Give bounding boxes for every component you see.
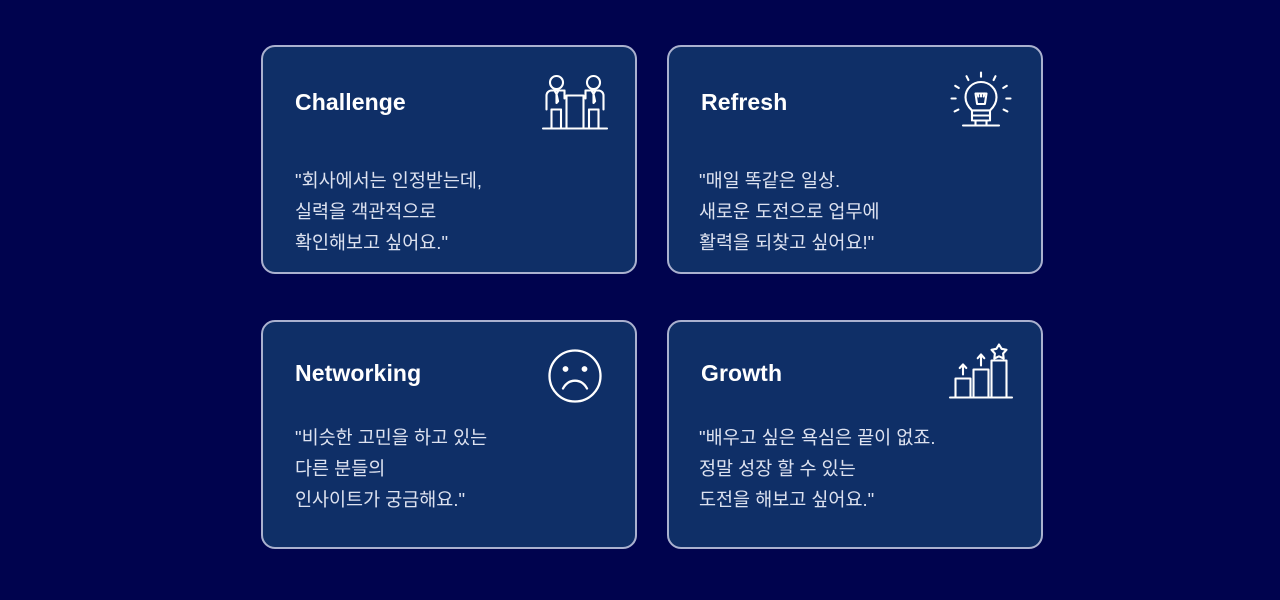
card-header: Challenge [295,81,609,153]
lightbulb-icon [945,69,1017,141]
sad-face-icon [539,340,611,412]
bar-chart-growth-icon [945,340,1017,412]
card-title: Networking [295,352,421,385]
card-growth[interactable]: Growth [667,320,1043,549]
card-refresh[interactable]: Refresh [667,45,1043,274]
card-quote: "회사에서는 인정받는데, 실력을 객관적으로 확인해보고 싶어요." [295,165,615,258]
card-title: Growth [701,352,782,385]
card-quote: "매일 똑같은 일상. 새로운 도전으로 업무에 활력을 되찾고 싶어요!" [699,165,1021,258]
card-title: Refresh [701,81,787,114]
card-challenge[interactable]: Challenge [261,45,637,274]
two-people-holding-board-icon [539,69,611,141]
slide-canvas: Challenge [0,0,1280,600]
card-networking[interactable]: Networking "비슷한 고민을 하고 있는 다른 분들의 인사이트가 궁… [261,320,637,549]
card-quote: "배우고 싶은 욕심은 끝이 없죠. 정말 성장 할 수 있는 도전을 해보고 … [699,422,1021,515]
card-header: Growth [701,352,1015,424]
card-header: Networking [295,352,609,424]
card-header: Refresh [701,81,1015,153]
card-title: Challenge [295,81,406,114]
card-quote: "비슷한 고민을 하고 있는 다른 분들의 인사이트가 궁금해요." [295,422,615,515]
